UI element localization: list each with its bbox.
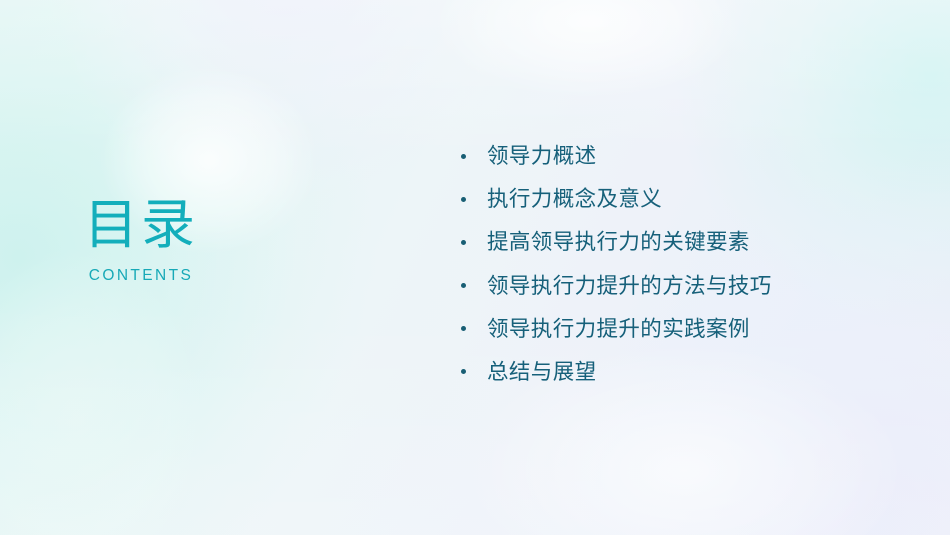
page-title-subtitle: CONTENTS xyxy=(0,267,282,285)
bullet-dot-icon xyxy=(455,271,479,301)
bullet-dot-icon xyxy=(455,314,479,344)
section-title-block: 目录 CONTENTS xyxy=(0,196,282,285)
list-item-label: 领导力概述 xyxy=(479,141,895,171)
list-item-label: 总结与展望 xyxy=(479,357,895,387)
list-item-label: 提高领导执行力的关键要素 xyxy=(479,227,895,257)
bullet-dot-icon xyxy=(455,227,479,257)
bullet-dot-icon xyxy=(455,184,479,214)
bullet-dot-icon xyxy=(455,357,479,387)
list-item-label: 领导执行力提升的实践案例 xyxy=(479,314,895,344)
page-title: 目录 xyxy=(0,196,282,254)
list-item[interactable]: 领导执行力提升的方法与技巧 xyxy=(455,271,895,314)
bullet-dot-icon xyxy=(455,141,479,171)
list-item[interactable]: 领导执行力提升的实践案例 xyxy=(455,314,895,357)
list-item[interactable]: 执行力概念及意义 xyxy=(455,184,895,227)
contents-list: 领导力概述 执行力概念及意义 提高领导执行力的关键要素 领导执行力提升的方法与技… xyxy=(455,141,895,400)
list-item-label: 领导执行力提升的方法与技巧 xyxy=(479,271,895,301)
list-item[interactable]: 提高领导执行力的关键要素 xyxy=(455,227,895,270)
list-item[interactable]: 总结与展望 xyxy=(455,357,895,400)
list-item[interactable]: 领导力概述 xyxy=(455,141,895,184)
slide-canvas: 目录 CONTENTS 领导力概述 执行力概念及意义 提高领导执行力的关键要素 … xyxy=(0,0,950,535)
list-item-label: 执行力概念及意义 xyxy=(479,184,895,214)
